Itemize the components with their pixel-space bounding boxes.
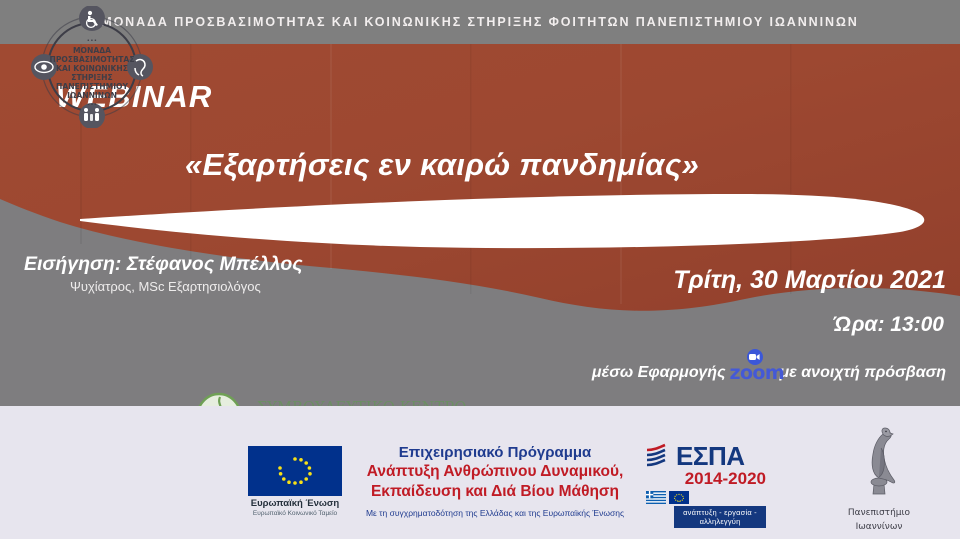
poster-title: «Εξαρτήσεις εν καιρώ πανδημίας» bbox=[185, 147, 699, 183]
svg-text:ΜΟΝΑΔΑ: ΜΟΝΑΔΑ bbox=[73, 46, 111, 55]
webinar-poster: ΜΟΝΑΔΑ ΠΡΟΣΒΑΣΙΜΟΤΗΤΑΣ ΚΑΙ ΚΟΙΝΩΝΙΚΗΣ ΣΤ… bbox=[0, 0, 960, 539]
svg-text:ΚΑΙ ΚΟΙΝΩΝΙΚΗΣ: ΚΑΙ ΚΟΙΝΩΝΙΚΗΣ bbox=[56, 64, 128, 73]
espa-flag-pair bbox=[646, 491, 766, 504]
programme-line-2: Ανάπτυξη Ανθρώπινου Δυναμικού, bbox=[350, 462, 640, 482]
svg-text:ΙΩΑΝΝΙΝΩΝ: ΙΩΑΝΝΙΝΩΝ bbox=[67, 91, 117, 100]
university-name-line2: Ιωαννίνων bbox=[826, 521, 932, 533]
svg-text:•••: ••• bbox=[87, 102, 97, 108]
eu-flag bbox=[248, 446, 342, 496]
organization-title: ΜΟΝΑΔΑ ΠΡΟΣΒΑΣΙΜΟΤΗΤΑΣ ΚΑΙ ΚΟΙΝΩΝΙΚΗΣ ΣΤ… bbox=[101, 15, 858, 29]
svg-text:ΠΑΝΕΠΙΣΤΗΜΙΟΥ: ΠΑΝΕΠΙΣΤΗΜΙΟΥ bbox=[56, 82, 129, 91]
programme-line-1: Επιχειρησιακό Πρόγραμμα bbox=[350, 443, 640, 462]
svg-text:ΠΡΟΣΒΑΣΙΜΟΤΗΤΑΣ: ΠΡΟΣΒΑΣΙΜΟΤΗΤΑΣ bbox=[49, 55, 134, 64]
platform-suffix-text: με ανοιχτή πρόσβαση bbox=[780, 364, 947, 382]
platform-line: μέσω Εφαρμογής zoom με ανοιχτή πρόσβαση bbox=[592, 361, 946, 385]
espa-logo: ΕΣΠΑ 2014-2020 bbox=[646, 443, 766, 528]
counselling-center-name: ΣΥΜΒΟΥΛΕΥΤΙΚΟ ΚΕΝΤΡΟ ΠΑΝΕΠΙΣΤΗΜΙΟΥ ΙΩΑΝΝ… bbox=[257, 398, 502, 406]
svg-text:ΣΤΗΡΙΞΗΣ: ΣΤΗΡΙΞΗΣ bbox=[71, 73, 112, 82]
collaboration-block: Σε συνεργασία με το : ΣΥΜΒΟΥΛΕΥΤΙΚΟ ΚΕΝΤ… bbox=[22, 392, 502, 406]
zoom-logo: zoom bbox=[730, 361, 776, 385]
accessibility-unit-logo: ••• ΜΟΝΑΔΑ ΠΡΟΣΒΑΣΙΜΟΤΗΤΑΣ ΚΑΙ ΚΟΙΝΩΝΙΚΗ… bbox=[22, 6, 162, 128]
speaker-name: Εισήγηση: Στέφανος Μπέλλος bbox=[24, 253, 303, 276]
eu-stars bbox=[248, 446, 342, 496]
eu-flag-icon bbox=[669, 491, 689, 504]
programme-line-3: Εκπαίδευση και Διά Βίου Μάθηση bbox=[350, 482, 640, 502]
event-time: Ώρα: 13:00 bbox=[834, 313, 944, 337]
operational-programme-block: Επιχειρησιακό Πρόγραμμα Ανάπτυξη Ανθρώπι… bbox=[350, 443, 640, 520]
university-name-line1: Πανεπιστήμιο bbox=[826, 507, 932, 519]
counselling-center-logo bbox=[193, 392, 245, 406]
counselling-center-line1: ΣΥΜΒΟΥΛΕΥΤΙΚΟ ΚΕΝΤΡΟ bbox=[257, 398, 502, 406]
platform-prefix-text: μέσω Εφαρμογής bbox=[592, 364, 726, 382]
espa-swoosh-icon bbox=[646, 443, 672, 469]
espa-wordmark: ΕΣΠΑ bbox=[676, 443, 745, 469]
espa-logo-row: ΕΣΠΑ bbox=[646, 443, 766, 469]
eu-label: Ευρωπαϊκή Ένωση bbox=[248, 498, 342, 509]
programme-cofunding-note: Με τη συγχρηματοδότηση της Ελλάδας και τ… bbox=[350, 506, 640, 520]
university-of-ioannina-logo: Πανεπιστήμιο Ιωαννίνων bbox=[826, 424, 932, 533]
espa-tagline: ανάπτυξη - εργασία - αλληλεγγύη bbox=[674, 506, 766, 528]
speaker-credentials: Ψυχίατρος, MSc Εξαρτησιολόγος bbox=[70, 279, 261, 294]
espa-years: 2014-2020 bbox=[646, 469, 766, 488]
camera-glyph bbox=[749, 353, 760, 361]
event-date: Τρίτη, 30 Μαρτίου 2021 bbox=[673, 266, 946, 295]
eagle-emblem-icon bbox=[826, 424, 932, 500]
eu-emblem: Ευρωπαϊκή Ένωση Ευρωπαϊκό Κοινωνικό Ταμε… bbox=[248, 446, 342, 518]
zoom-wordmark: zoom bbox=[730, 364, 785, 383]
svg-text:•••: ••• bbox=[87, 38, 98, 44]
eu-sublabel: Ευρωπαϊκό Κοινωνικό Ταμείο bbox=[248, 509, 342, 518]
greece-flag-icon bbox=[646, 491, 666, 504]
